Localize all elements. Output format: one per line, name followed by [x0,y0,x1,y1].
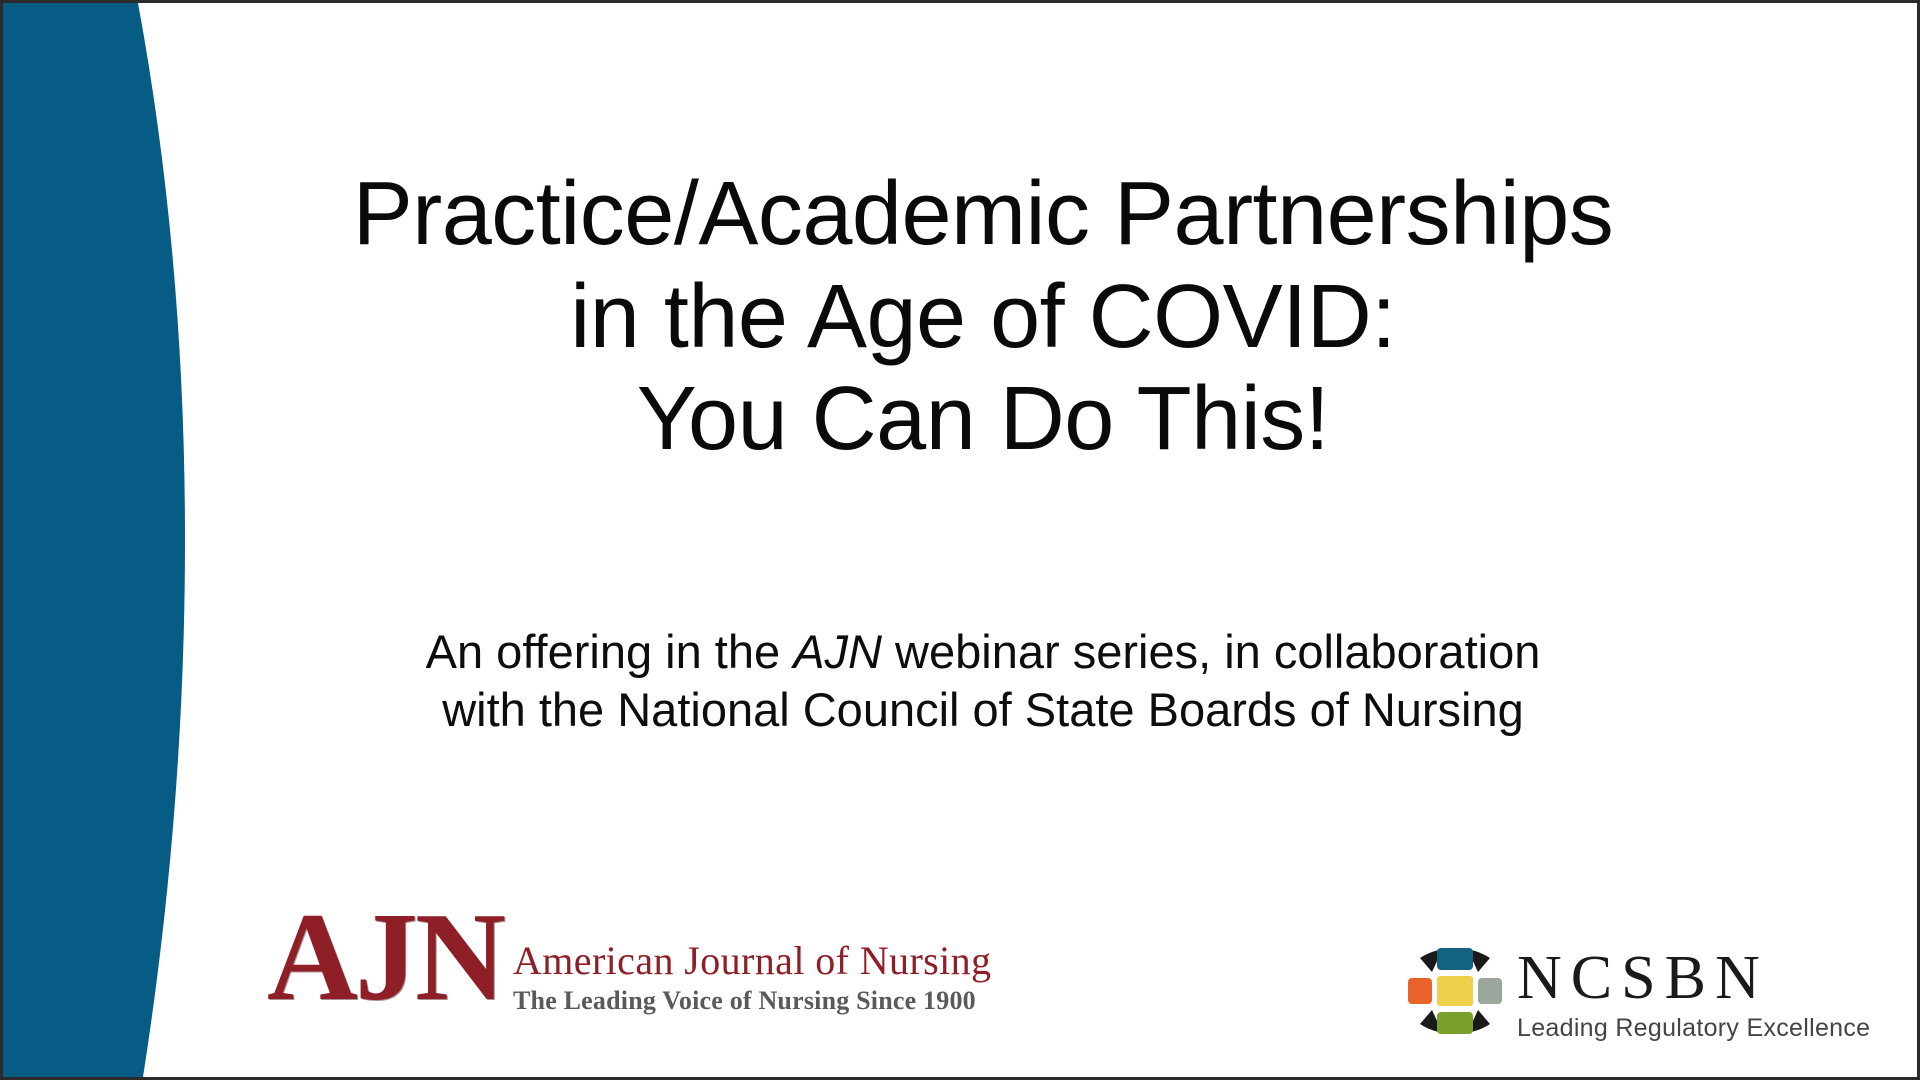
presentation-slide: Practice/Academic Partnerships in the Ag… [0,0,1920,1080]
subtitle-line-1-prefix: An offering in the [426,625,794,678]
ncsbn-wordmark: NCSBN [1517,947,1870,1009]
subtitle-line-2: with the National Council of State Board… [203,681,1763,739]
subtitle: An offering in the AJN webinar series, i… [203,623,1763,739]
ajn-full-name: American Journal of Nursing [513,940,991,982]
ncsbn-logo: NCSBN Leading Regulatory Excellence [1399,941,1870,1043]
ajn-tagline: The Leading Voice of Nursing Since 1900 [513,985,991,1016]
ncsbn-tagline: Leading Regulatory Excellence [1517,1013,1870,1043]
ajn-logo-text: American Journal of Nursing The Leading … [513,896,991,1016]
subtitle-line-1-suffix: webinar series, in collaboration [882,625,1540,678]
page-title: Practice/Academic Partnerships in the Ag… [203,163,1763,471]
title-line-1: Practice/Academic Partnerships [203,163,1763,266]
subtitle-journal-abbreviation: AJN [793,625,882,678]
ncsbn-logo-text: NCSBN Leading Regulatory Excellence [1517,941,1870,1043]
title-line-2: in the Age of COVID: [203,266,1763,369]
title-line-3: You Can Do This! [203,368,1763,471]
ncsbn-globe-icon [1399,941,1511,1041]
ajn-logo: AJN American Journal of Nursing The Lead… [267,896,991,1019]
subtitle-line-1: An offering in the AJN webinar series, i… [203,623,1763,681]
ajn-wordmark: AJN [267,896,503,1019]
